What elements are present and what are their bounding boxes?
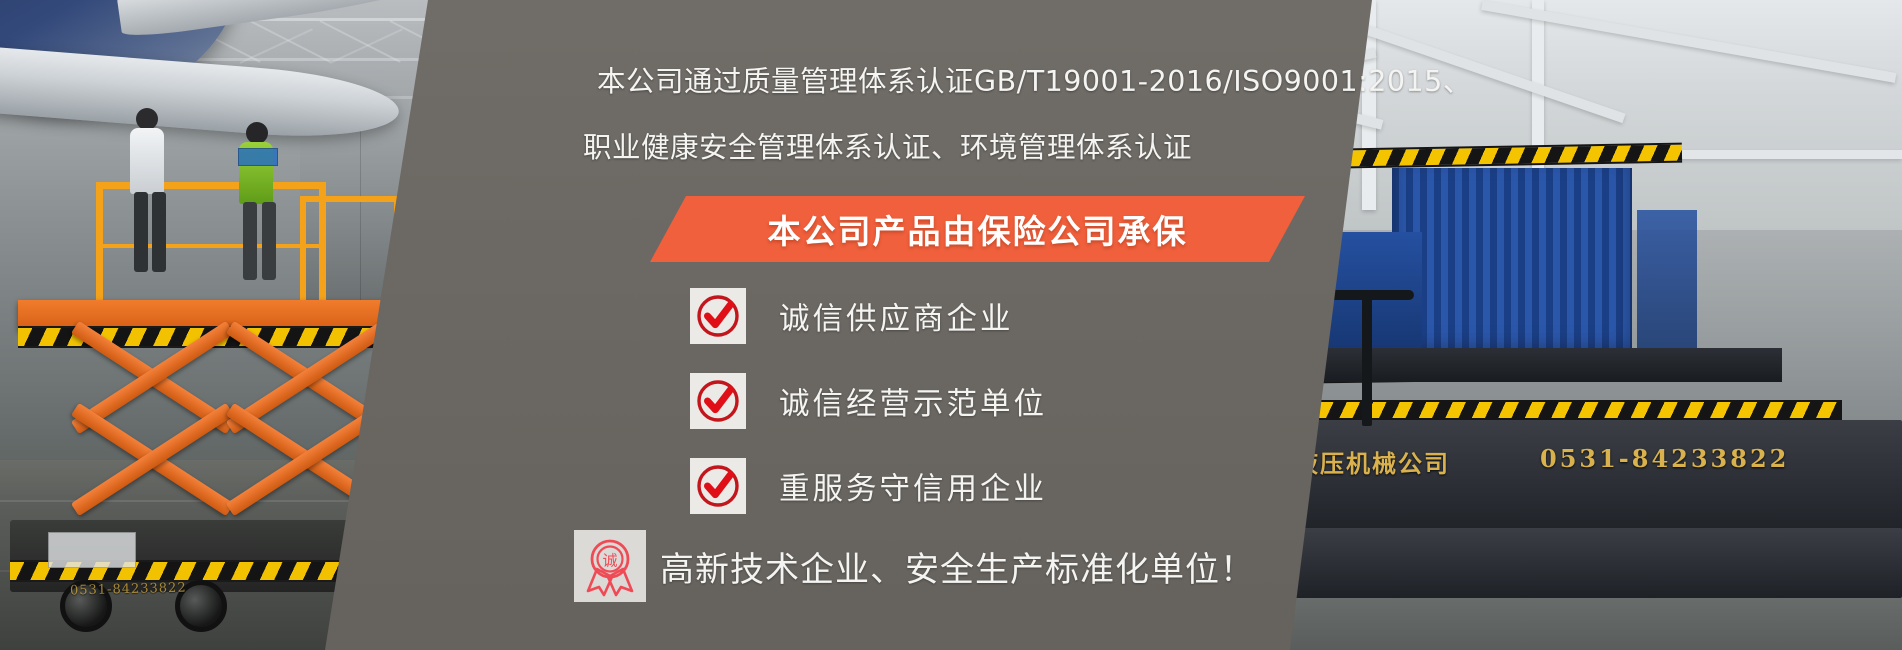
list-item-label: 诚信供应商企业 [779, 294, 1014, 338]
medal-list-item: 诚 高新技术企业、安全生产标准化单位！ [574, 530, 1255, 602]
promo-banner: 0531-84233822 济南金力液压机械公司 0531-84233822 [0, 0, 1902, 650]
list-item-label: 重服务守信用企业 [779, 464, 1047, 508]
headline-line-2: 职业健康安全管理体系认证、环境管理体系认证 [583, 134, 1192, 163]
check-circle-icon [690, 373, 746, 429]
medal-ribbon-icon: 诚 [574, 530, 646, 602]
check-circle-icon [690, 288, 746, 344]
insurance-highlight-text: 本公司产品由保险公司承保 [650, 205, 1305, 253]
banner-content: 本公司通过质量管理体系认证GB/T19001-2016/ISO9001:2015… [0, 0, 1902, 650]
medal-icon-text: 诚 [602, 552, 617, 570]
headline-line-1: 本公司通过质量管理体系认证GB/T19001-2016/ISO9001:2015… [597, 68, 1472, 97]
list-item: 诚信经营示范单位 [690, 373, 1047, 429]
list-item: 诚信供应商企业 [690, 288, 1047, 344]
certification-list: 诚信供应商企业 诚信经营示范单位 重服务守信 [690, 288, 1047, 543]
check-circle-icon [690, 458, 746, 514]
medal-item-label: 高新技术企业、安全生产标准化单位！ [660, 542, 1255, 591]
list-item: 重服务守信用企业 [690, 458, 1047, 514]
list-item-label: 诚信经营示范单位 [779, 379, 1047, 423]
insurance-highlight-banner: 本公司产品由保险公司承保 [650, 196, 1305, 262]
